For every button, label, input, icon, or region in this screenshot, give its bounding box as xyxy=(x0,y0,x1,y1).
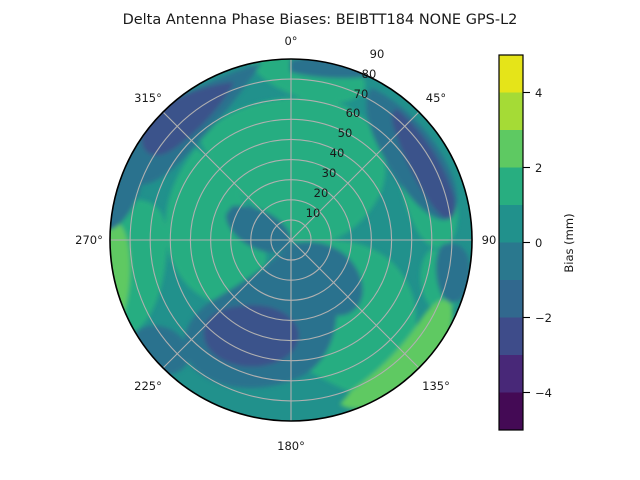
radial-tick-10: 10 xyxy=(306,206,321,220)
colorbar-band-9 xyxy=(499,93,523,131)
azimuth-tick-315: 315° xyxy=(134,91,162,105)
colorbar-axis-label: Bias (mm) xyxy=(562,213,576,272)
page-title: Delta Antenna Phase Biases: BEIBTT184 NO… xyxy=(123,12,518,28)
radial-tick-40: 40 xyxy=(330,146,345,160)
polar-angular-grid xyxy=(110,59,472,421)
azimuth-tick-0: 0° xyxy=(284,34,297,48)
colorbar-band-4 xyxy=(499,280,523,318)
colorbar-band-1 xyxy=(499,393,523,431)
azimuth-tick-225: 225° xyxy=(134,379,162,393)
azimuth-tick-270: 270° xyxy=(75,233,103,247)
radial-tick-90: 90 xyxy=(370,47,385,61)
radial-tick-30: 30 xyxy=(322,166,337,180)
colorbar-band-10 xyxy=(499,55,523,93)
colorbar-bands xyxy=(499,55,523,430)
colorbar-tick-label-4: 4 xyxy=(535,86,542,100)
colorbar-band-7 xyxy=(499,168,523,206)
colorbar-band-6 xyxy=(499,205,523,243)
colorbar-band-2 xyxy=(499,355,523,393)
colorbar-tick-label-m2: −2 xyxy=(535,311,552,325)
azimuth-tick-180: 180° xyxy=(277,439,305,453)
radial-tick-80: 80 xyxy=(362,67,377,81)
azimuth-tick-45: 45° xyxy=(426,91,446,105)
radial-tick-20: 20 xyxy=(314,186,329,200)
radial-tick-60: 60 xyxy=(346,106,361,120)
colorbar-band-8 xyxy=(499,130,523,168)
azimuth-tick-90: 90 xyxy=(482,233,497,247)
colorbar-band-5 xyxy=(499,243,523,281)
azimuth-tick-135: 135° xyxy=(422,379,450,393)
colorbar-band-3 xyxy=(499,318,523,356)
radial-tick-70: 70 xyxy=(354,87,369,101)
colorbar-tick-label-2: 2 xyxy=(535,161,542,175)
colorbar-tick-label-m4: −4 xyxy=(535,386,552,400)
colorbar-tick-label-0: 0 xyxy=(535,236,542,250)
polar-bias-figure: Delta Antenna Phase Biases: BEIBTT184 NO… xyxy=(0,0,640,480)
radial-tick-50: 50 xyxy=(338,126,353,140)
